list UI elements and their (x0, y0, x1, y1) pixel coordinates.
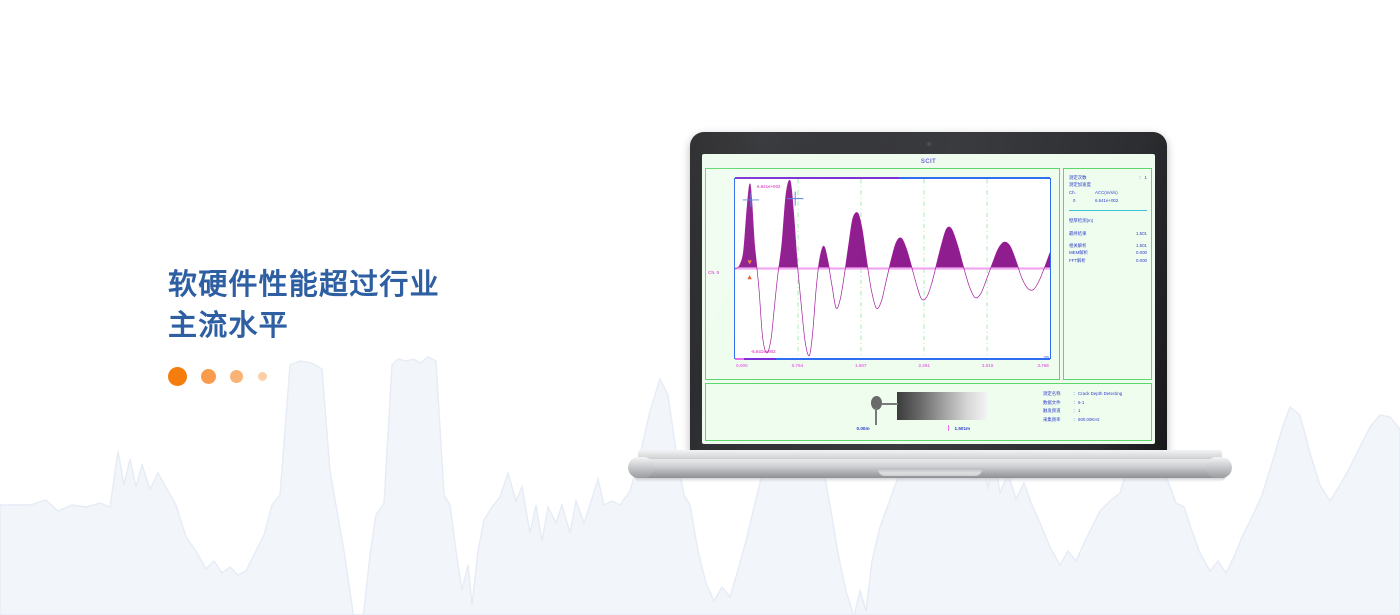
result-row-final: 最终结果 1.501 (1069, 230, 1147, 237)
acc-row-channel: 0 (1069, 197, 1095, 205)
channel-label: Ch. 0 (708, 270, 719, 275)
x-tick-label: 2.261 (918, 363, 930, 368)
meta-key-file: 数据文件 (1043, 399, 1073, 408)
meta-row-trigger: 触发频道 ： 1 (1043, 407, 1147, 416)
scit-application-window: SCIT 6.641e+002 (702, 154, 1155, 444)
result-value-mem: 0.000 (1132, 249, 1147, 256)
carousel-dots[interactable] (168, 366, 440, 386)
y-axis-min-label: -6.641e+002 (751, 349, 776, 354)
meta-value-file: 6-1 (1078, 399, 1084, 408)
acc-header-unit: ACC(m/s/s) (1095, 189, 1118, 197)
probe-stem-icon (875, 408, 877, 425)
measurement-metadata: 測定名称 ： Crack Depth Detecting 数据文件 ： 6-1 … (1043, 390, 1147, 424)
app-title: SCIT (705, 157, 1152, 168)
laptop-base (630, 450, 1230, 482)
meta-row-file: 数据文件 ： 6-1 (1043, 399, 1147, 408)
meta-row-sampling: 采集频率 ： 500.00KHz (1043, 416, 1147, 425)
acc-header-channel: Ch. (1069, 189, 1095, 197)
probe-arm-icon (882, 403, 898, 405)
axis-bottom-segment-purple (744, 358, 776, 360)
acceleration-table-row: 0 6.641e+002 (1069, 197, 1147, 205)
result-row-mem: MEM解析 0.000 (1069, 249, 1147, 256)
axis-bottom-segment-blue (776, 358, 1050, 360)
meta-value-name: Crack Depth Detecting (1078, 390, 1122, 399)
measurement-count-row: 測定次数 ： 1 (1069, 174, 1147, 181)
depth-label-start: 0.00m (857, 426, 870, 431)
result-value-final: 1.501 (1132, 230, 1147, 237)
meta-key-sampling: 采集频率 (1043, 416, 1073, 425)
crosshair-cursor-icon (743, 193, 759, 207)
acc-row-value: 6.641e+002 (1095, 197, 1118, 205)
x-tick-label: 3.768 (1037, 363, 1049, 368)
webcam-icon (926, 141, 932, 147)
carousel-dot-2[interactable] (201, 369, 216, 384)
laptop-screen: SCIT 6.641e+002 (702, 154, 1155, 444)
base-body (630, 459, 1230, 478)
meta-row-name: 測定名称 ： Crack Depth Detecting (1043, 390, 1147, 399)
depth-gradient-bar (897, 392, 987, 420)
carousel-dot-3[interactable] (230, 370, 243, 383)
page-root: 软硬件性能超过行业 主流水平 SCIT (0, 0, 1400, 615)
waveform-svg (735, 179, 1050, 358)
result-row-correlation: 相关解析 1.501 (1069, 242, 1147, 249)
x-axis-tick-labels: 0.0000.7541.5072.2613.0153.768 (734, 363, 1051, 373)
result-key-mem: MEM解析 (1069, 249, 1088, 256)
depth-label-end: 1.501m (955, 426, 971, 431)
probe-depth-visual: 0.00m 1.501m (843, 392, 1015, 434)
marker-up-icon (747, 275, 751, 279)
axis-bottom-segment-pink (735, 358, 744, 360)
x-tick-label: 1.507 (855, 363, 867, 368)
result-value-fft: 0.000 (1132, 257, 1147, 264)
result-key-fft: FFT解析 (1069, 257, 1086, 264)
x-axis-unit-label: ms (1044, 354, 1049, 359)
hero-text-block: 软硬件性能超过行业 主流水平 (168, 264, 440, 386)
waveform-plot-pane[interactable]: 6.641e+002 -6.641e+002 ms Ch. 0 0.0000.7… (705, 168, 1060, 380)
result-key-correlation: 相关解析 (1069, 242, 1087, 249)
y-axis-max-label: 6.641e+002 (757, 184, 780, 189)
result-value-correlation: 1.501 (1132, 242, 1147, 249)
measurement-info-panel: 測定次数 ： 1 測定加速度 Ch. ACC(m/s/s) 0 6.641e+0… (1063, 168, 1152, 380)
x-tick-label: 0.754 (792, 363, 804, 368)
laptop-mockup: SCIT 6.641e+002 (630, 132, 1230, 482)
carousel-dot-1[interactable] (168, 367, 187, 386)
x-tick-label: 3.015 (982, 363, 994, 368)
base-cap-left (628, 457, 654, 478)
depth-marker-tick (948, 425, 949, 431)
meta-value-trigger: 1 (1078, 407, 1080, 416)
result-row-fft: FFT解析 0.000 (1069, 257, 1147, 264)
base-cap-right (1206, 457, 1232, 478)
meta-key-trigger: 触发频道 (1043, 407, 1073, 416)
result-key-final: 最终结果 (1069, 230, 1087, 237)
acceleration-subhead: 測定加速度 (1069, 181, 1147, 189)
bottom-status-bar: 0.00m 1.501m 測定名称 ： Crack Depth Detectin… (705, 383, 1152, 441)
laptop-lid: SCIT 6.641e+002 (690, 132, 1167, 454)
x-tick-label: 0.000 (736, 363, 748, 368)
app-main-area: 6.641e+002 -6.641e+002 ms Ch. 0 0.0000.7… (705, 168, 1152, 380)
measurement-count-key: 測定次数 (1069, 174, 1087, 181)
meta-value-sampling: 500.00KHz (1078, 416, 1100, 425)
carousel-dot-4[interactable] (258, 372, 267, 381)
plot-frame: 6.641e+002 -6.641e+002 ms (734, 178, 1051, 359)
base-notch (878, 468, 982, 476)
meta-key-name: 測定名称 (1043, 390, 1073, 399)
acceleration-table-header: Ch. ACC(m/s/s) (1069, 189, 1147, 197)
panel-divider (1069, 210, 1147, 211)
measurement-count-value: ： 1 (1135, 174, 1147, 181)
thickness-section-title: 壁厚检测(m) (1069, 217, 1147, 225)
page-title: 软硬件性能超过行业 主流水平 (168, 264, 440, 346)
